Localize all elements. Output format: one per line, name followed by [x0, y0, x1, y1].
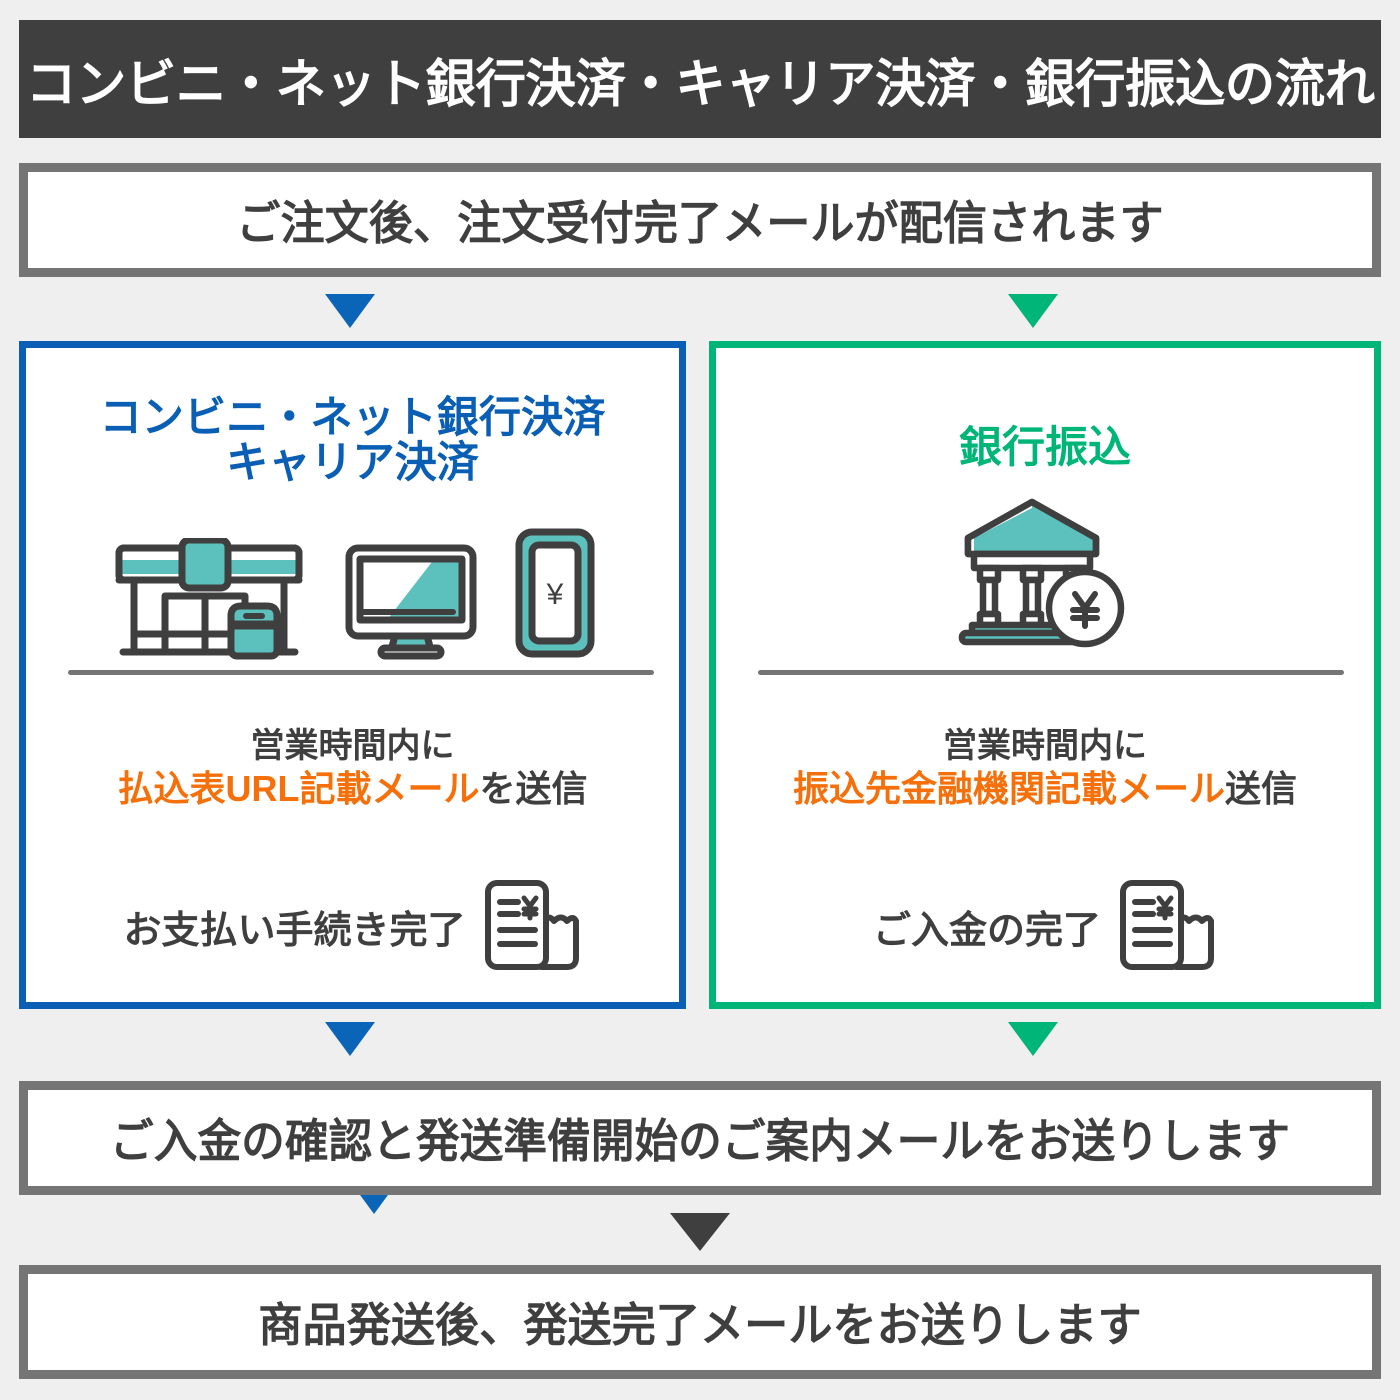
conveni-done-row: お支払い手続き完了	[26, 878, 679, 974]
arrow-down-from-bank-panel-icon	[1008, 1022, 1058, 1056]
step-order-confirmation-box: ご注文後、注文受付完了メールが配信されます	[19, 163, 1381, 277]
step-shipping-complete-box: 商品発送後、発送完了メールをお送りします	[19, 1265, 1381, 1379]
invoice-yen-icon	[480, 878, 582, 974]
step-confirm-label: ご入金の確認と発送準備開始のご案内メールをお送りします	[110, 1105, 1290, 1171]
conveni-panel-title: コンビニ・ネット銀行決済 キャリア決済	[33, 396, 673, 485]
arrow-down-to-shipped-icon	[670, 1213, 730, 1251]
step-payment-confirmation-box: ご入金の確認と発送準備開始のご案内メールをお送りします	[19, 1081, 1381, 1195]
bank-divider	[758, 670, 1344, 675]
conveni-title-line2: キャリア決済	[226, 439, 479, 487]
desktop-monitor-icon	[343, 542, 479, 660]
bank-send-suffix: 送信	[1225, 768, 1297, 809]
bank-done-label: ご入金の完了	[873, 899, 1101, 954]
convenience-store-icon	[109, 538, 309, 660]
conveni-send-line1: 営業時間内に	[251, 727, 455, 765]
bank-send-line1: 営業時間内に	[943, 727, 1147, 765]
step-shipped-label: 商品発送後、発送完了メールをお送りします	[258, 1289, 1141, 1355]
bank-send-highlight: 振込先金融機関記載メール	[793, 768, 1225, 809]
conveni-send-mail-text: 営業時間内に 払込表URL記載メールを送信	[26, 723, 679, 811]
conveni-divider	[68, 670, 654, 675]
bank-title-line1: 銀行振込	[959, 424, 1131, 472]
bank-send-mail-text: 営業時間内に 振込先金融機関記載メール送信	[716, 723, 1374, 811]
arrow-down-to-bank-panel-icon	[1008, 294, 1058, 328]
invoice-yen-icon	[1115, 878, 1217, 974]
bank-panel-title: 銀行振込	[716, 426, 1374, 471]
payment-method-panel-conveni: コンビニ・ネット銀行決済 キャリア決済	[19, 341, 686, 1009]
arrow-down-to-conveni-panel-icon	[325, 294, 375, 328]
conveni-send-highlight: 払込表URL記載メール	[117, 768, 479, 809]
arrow-down-from-conveni-panel-icon	[325, 1022, 375, 1056]
step-order-label: ご注文後、注文受付完了メールが配信されます	[236, 187, 1163, 253]
bank-building-yen-icon	[950, 496, 1140, 648]
payment-method-panel-bank-transfer: 銀行振込	[709, 341, 1381, 1009]
smartphone-yen-icon: ¥	[513, 526, 597, 660]
page-title: コンビニ・ネット銀行決済・キャリア決済・銀行振込の流れ	[26, 42, 1375, 117]
bank-done-row: ご入金の完了	[716, 878, 1374, 974]
header-title-bar: コンビニ・ネット銀行決済・キャリア決済・銀行振込の流れ	[19, 20, 1381, 138]
conveni-done-label: お支払い手続き完了	[123, 899, 465, 954]
conveni-title-line1: コンビニ・ネット銀行決済	[100, 394, 606, 442]
conveni-icon-row: ¥	[26, 526, 679, 660]
bank-icon-row	[716, 496, 1374, 648]
conveni-send-suffix: を送信	[479, 768, 587, 809]
yen-glyph: ¥	[545, 578, 563, 611]
